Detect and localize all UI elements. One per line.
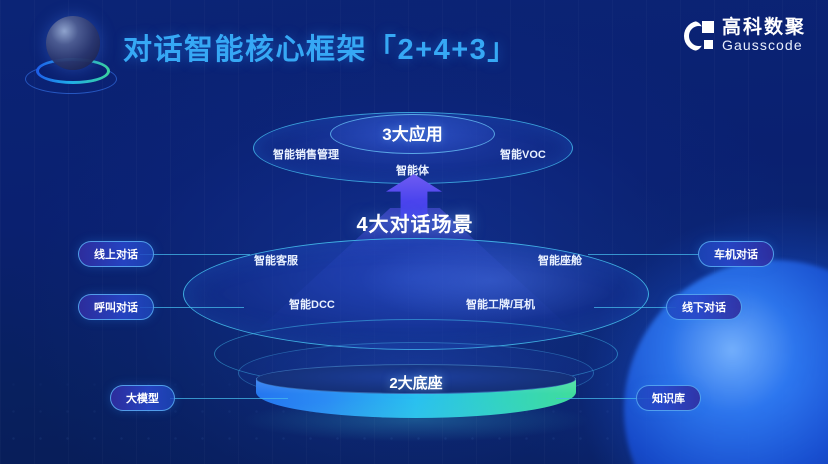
orb-ball-icon [46, 16, 100, 70]
gausscode-logomark-icon [684, 21, 714, 51]
layer-foundation-title: 2大底座 [256, 372, 576, 393]
brand-name-en: Gausscode [722, 38, 806, 53]
layer-applications-title: 3大应用 [330, 120, 495, 145]
pill-call-dialogue[interactable]: 呼叫对话 [78, 294, 154, 320]
scenario-label-customer-service: 智能客服 [254, 252, 298, 268]
page-title: 对话智能核心框架「2+4+3」 [123, 26, 518, 68]
layer-scenarios-title: 4大对话场景 [300, 208, 530, 237]
app-label-sales-management: 智能销售管理 [273, 146, 339, 162]
pill-offline-dialogue[interactable]: 线下对话 [666, 294, 742, 320]
connector-line-left-3 [170, 398, 288, 399]
slide-canvas: 对话智能核心框架「2+4+3」 高科数聚 Gausscode 3大应用 智能销售… [0, 0, 828, 464]
pill-large-model[interactable]: 大模型 [110, 385, 175, 411]
pill-online-dialogue[interactable]: 线上对话 [78, 241, 154, 267]
slide-header: 对话智能核心框架「2+4+3」 高科数聚 Gausscode [0, 0, 828, 100]
brand-name-cn: 高科数聚 [722, 18, 806, 38]
scenario-label-dcc: 智能DCC [289, 296, 335, 312]
connector-line-right-2 [594, 307, 676, 308]
connector-line-left-2 [140, 307, 244, 308]
pill-knowledge-base[interactable]: 知识库 [636, 385, 701, 411]
connector-line-right-1 [588, 254, 698, 255]
sphere-orb-icon [24, 12, 118, 96]
connector-line-left-1 [140, 254, 250, 255]
pill-in-car-dialogue[interactable]: 车机对话 [698, 241, 774, 267]
brand-logo: 高科数聚 Gausscode [684, 18, 806, 53]
scenario-label-badge-headset: 智能工牌/耳机 [466, 296, 535, 312]
scenario-label-cockpit: 智能座舱 [538, 252, 582, 268]
app-label-voc: 智能VOC [500, 146, 546, 162]
